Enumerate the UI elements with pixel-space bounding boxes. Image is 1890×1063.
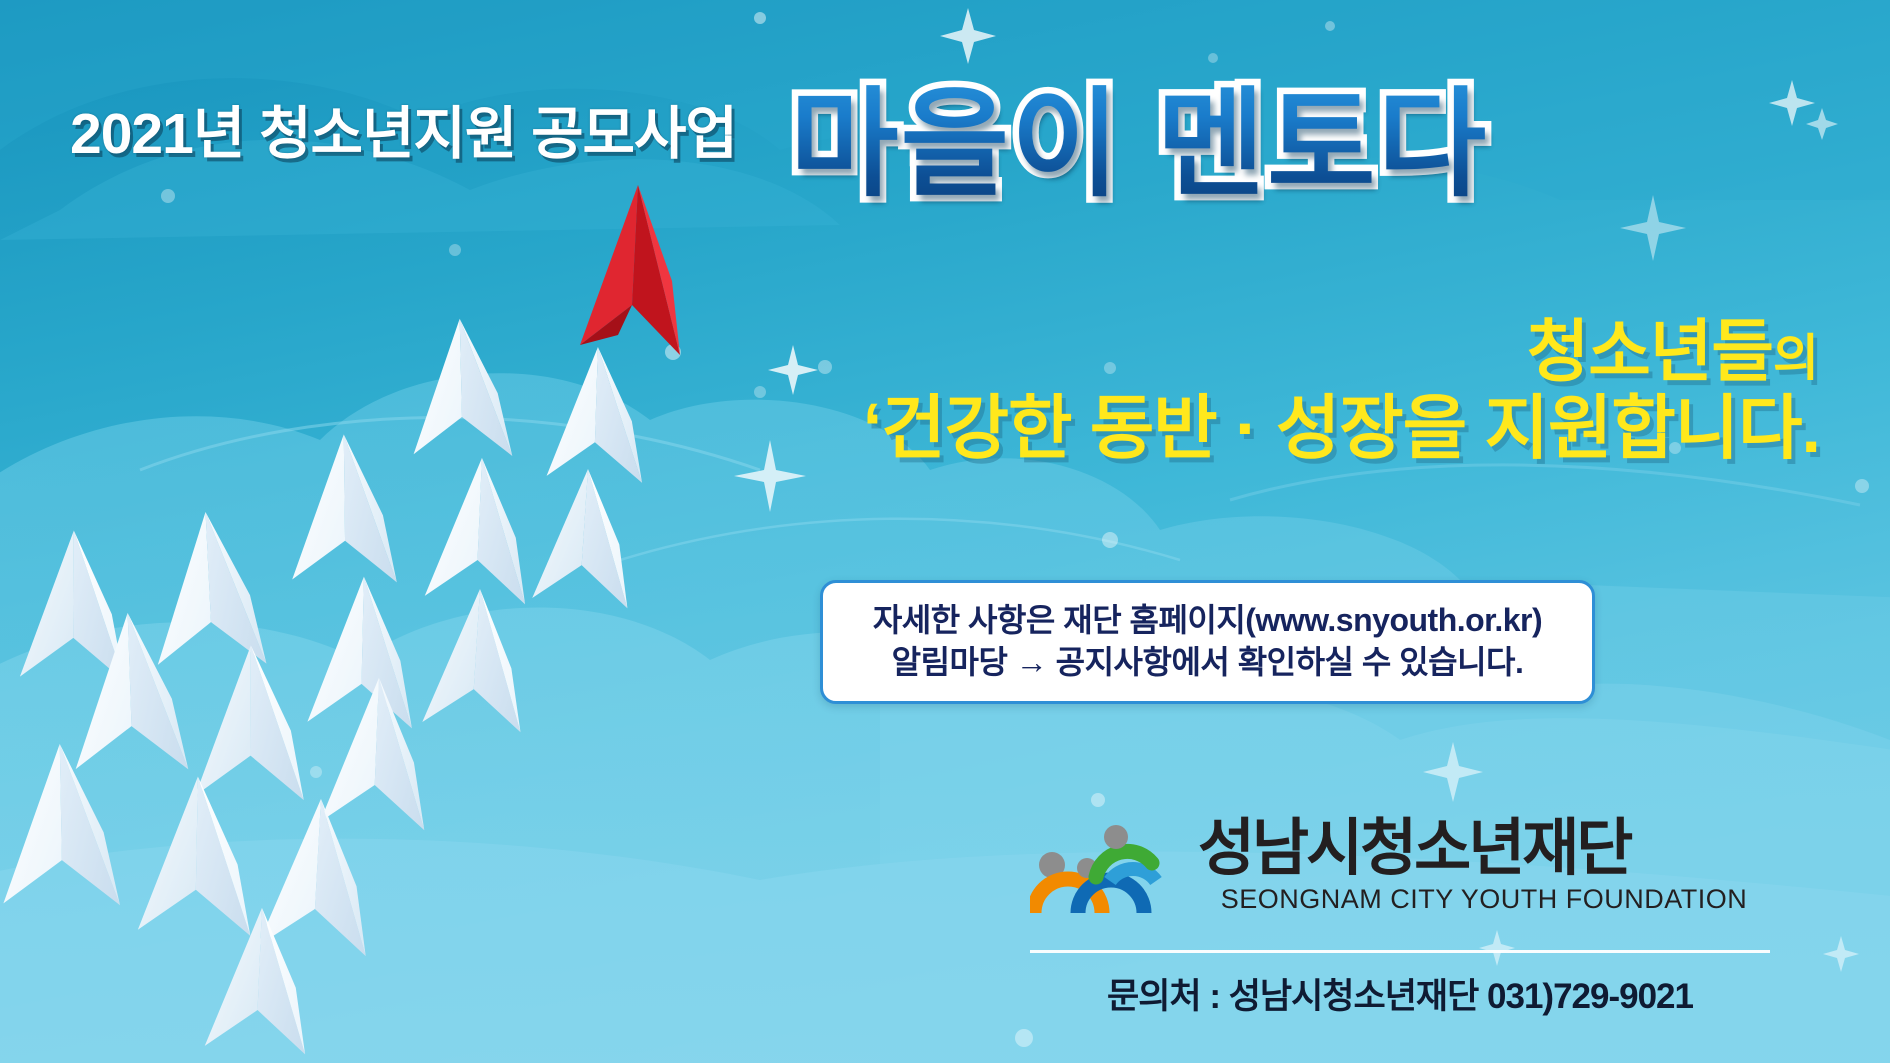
- info-box: 자세한 사항은 재단 홈페이지(www.snyouth.or.kr) 알림마당 …: [820, 580, 1595, 704]
- plane: [130, 774, 250, 942]
- plane: [400, 315, 512, 466]
- star-dot: [1325, 21, 1335, 31]
- info-box-line-1: 자세한 사항은 재단 홈페이지(www.snyouth.or.kr): [833, 599, 1582, 641]
- logo-english-name: SEONGNAM CITY YOUTH FOUNDATION: [1198, 884, 1770, 915]
- main-title: 마을이 멘토다: [790, 48, 1488, 219]
- plane: [200, 907, 305, 1058]
- logo-korean-name: 성남시청소년재단: [1198, 818, 1770, 880]
- foundation-logo: 성남시청소년재단 SEONGNAM CITY YOUTH FOUNDATION: [1030, 818, 1770, 915]
- plane: [10, 528, 124, 689]
- star-dot: [754, 12, 766, 24]
- plane: [140, 507, 266, 677]
- plane: [540, 345, 642, 488]
- lead-plane-red: [580, 185, 680, 355]
- plane: [300, 575, 412, 734]
- logo-mark-icon: [1030, 823, 1180, 915]
- promotional-banner: 2021년 청소년지원 공모사업 마을이 멘토다 마을이 멘토다 청소년들의 ‘…: [0, 0, 1890, 1063]
- plane: [280, 431, 397, 591]
- plane: [185, 642, 304, 807]
- star-dot: [1102, 532, 1118, 548]
- tagline-line-2: ‘건강한 동반 · 성장을 지원합니다.: [863, 372, 1820, 473]
- divider: [1030, 950, 1770, 953]
- plane: [530, 468, 627, 610]
- contact-info: 문의처 : 성남시청소년재단 031)729-9021: [1030, 968, 1770, 1019]
- star-dot: [1855, 479, 1869, 493]
- star-dot: [1091, 793, 1105, 807]
- info-box-line-2: 알림마당 → 공지사항에서 확인하실 수 있습니다.: [833, 641, 1582, 683]
- page-title: 2021년 청소년지원 공모사업: [70, 88, 737, 170]
- plane: [420, 588, 520, 734]
- star-dot: [1015, 1029, 1033, 1047]
- plane: [420, 457, 525, 608]
- plane: [0, 740, 120, 915]
